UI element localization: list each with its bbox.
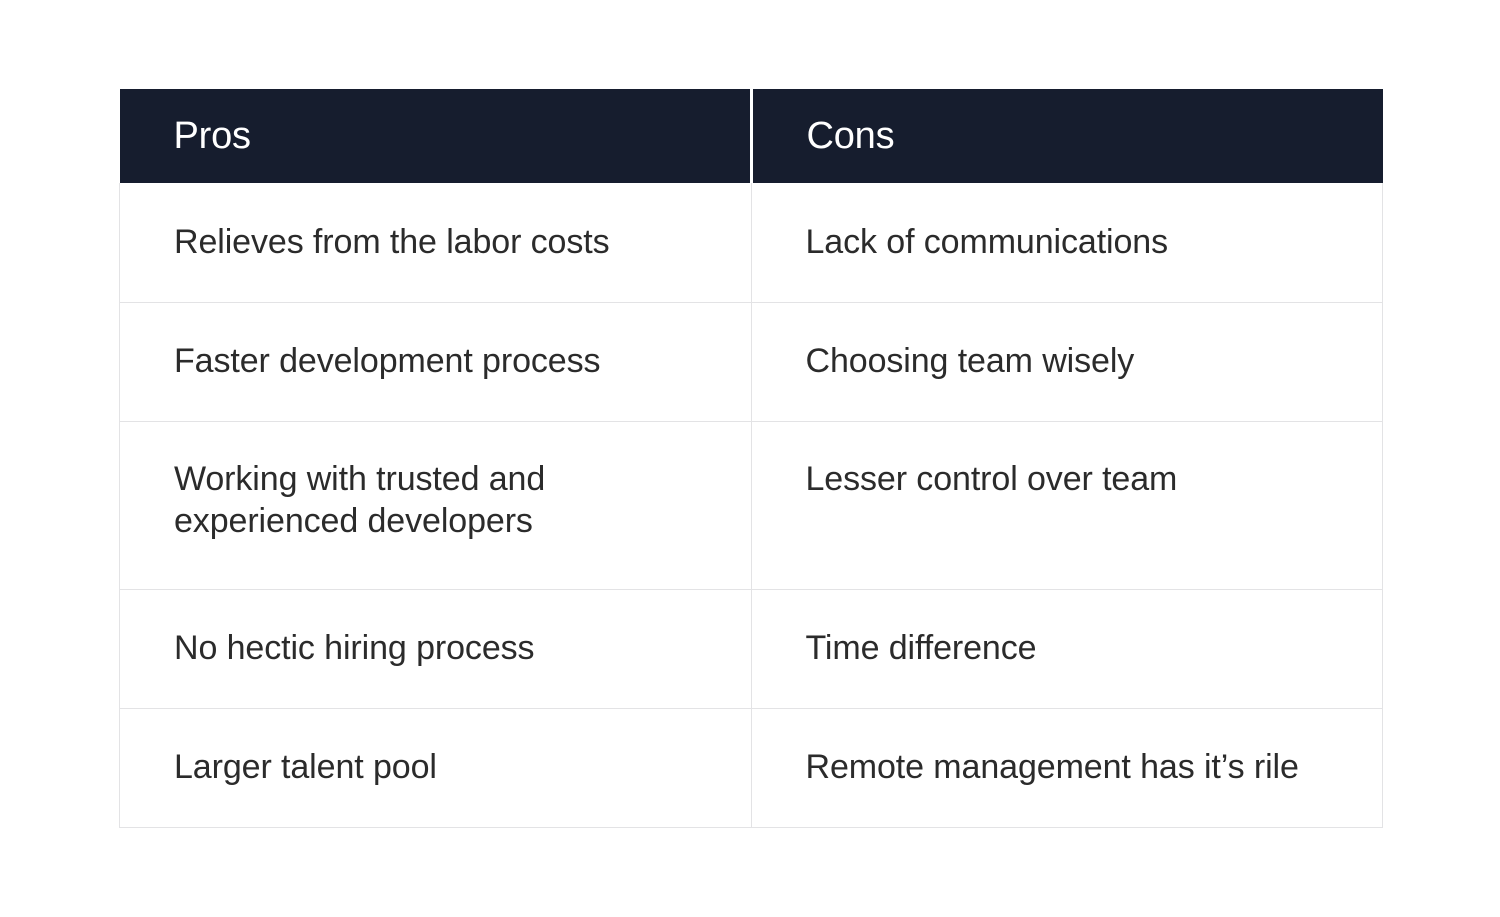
table-row: No hectic hiring process Time difference [120,589,1383,708]
cell-text: Working with trusted and experienced dev… [174,458,721,544]
cell-pros: Relieves from the labor costs [120,183,752,302]
cell-text: Choosing team wisely [806,340,1353,383]
cell-pros: Larger talent pool [120,708,752,827]
cell-text: Larger talent pool [174,746,721,789]
cell-text: Lesser control over team [806,458,1353,501]
cell-pros: Working with trusted and experienced dev… [120,421,752,589]
cell-text: Remote management has it’s rile [806,746,1353,789]
cell-pros: Faster development process [120,302,752,421]
cell-cons: Remote management has it’s rile [751,708,1383,827]
column-header-pros: Pros [120,89,752,183]
cell-cons: Lesser control over team [751,421,1383,589]
table-header-row: Pros Cons [120,89,1383,183]
table-row: Relieves from the labor costs Lack of co… [120,183,1383,302]
table-head: Pros Cons [120,89,1383,183]
cell-cons: Time difference [751,589,1383,708]
cell-text: Time difference [806,627,1353,670]
cell-text: Faster development process [174,340,721,383]
table-body: Relieves from the labor costs Lack of co… [120,183,1383,827]
cell-text: Relieves from the labor costs [174,221,721,264]
column-header-cons: Cons [751,89,1383,183]
table-row: Faster development process Choosing team… [120,302,1383,421]
cell-text: Lack of communications [806,221,1353,264]
cell-cons: Choosing team wisely [751,302,1383,421]
page-canvas: Pros Cons Relieves from the labor costs … [0,0,1500,917]
table-row: Working with trusted and experienced dev… [120,421,1383,589]
cell-text: No hectic hiring process [174,627,721,670]
pros-cons-table: Pros Cons Relieves from the labor costs … [119,89,1383,828]
table-row: Larger talent pool Remote management has… [120,708,1383,827]
cell-cons: Lack of communications [751,183,1383,302]
cell-pros: No hectic hiring process [120,589,752,708]
